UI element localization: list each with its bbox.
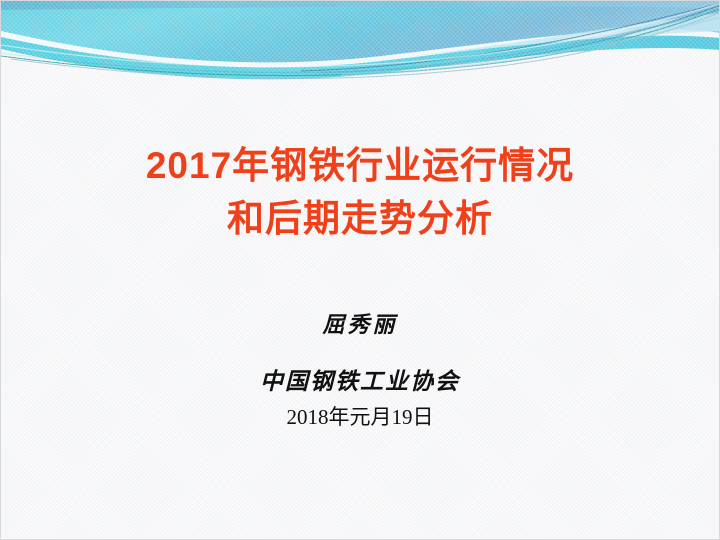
author-name: 屈秀丽 bbox=[1, 314, 719, 336]
organization-name: 中国钢铁工业协会 bbox=[1, 370, 719, 393]
slide-content: 2017年钢铁行业运行情况 和后期走势分析 屈秀丽 中国钢铁工业协会 2018年… bbox=[1, 1, 719, 539]
title-slide: 2017年钢铁行业运行情况 和后期走势分析 屈秀丽 中国钢铁工业协会 2018年… bbox=[0, 0, 720, 540]
slide-title-line-2: 和后期走势分析 bbox=[1, 200, 719, 237]
slide-title-line-1: 2017年钢铁行业运行情况 bbox=[1, 147, 719, 184]
presentation-date: 2018年元月19日 bbox=[1, 407, 719, 428]
